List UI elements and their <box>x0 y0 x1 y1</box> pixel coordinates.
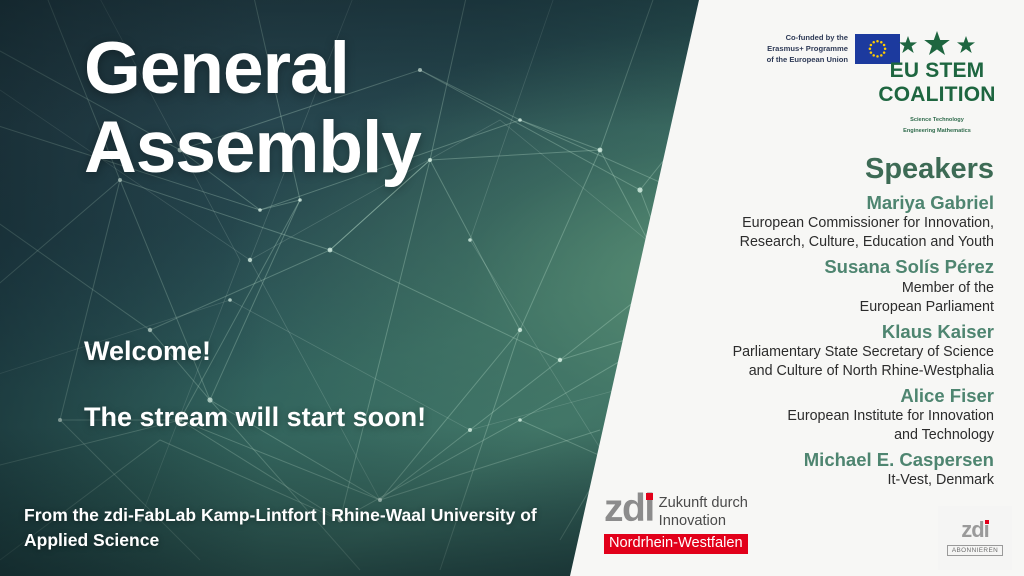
stem-tagline-line-2: Engineering Mathematics <box>858 126 1016 136</box>
title-line-1: General <box>84 28 349 109</box>
speaker-name: Klaus Kaiser <box>626 320 994 343</box>
speaker-role-line-2: Research, Culture, Education and Youth <box>626 233 994 252</box>
speakers-list: Mariya Gabriel European Commissioner for… <box>626 191 994 493</box>
speaker-entry: Susana Solís Pérez Member of the Europea… <box>626 255 994 316</box>
zdi-logo: zdi Zukunft durch Innovation Nordrhein-W… <box>604 492 782 554</box>
channel-watermark[interactable]: zdi ABONNIEREN <box>938 506 1012 570</box>
watermark-red-dot-icon <box>985 520 989 524</box>
zdi-red-dot-icon <box>646 493 653 500</box>
subscribe-button[interactable]: ABONNIEREN <box>947 545 1003 556</box>
welcome-text: Welcome! <box>84 336 211 367</box>
stream-notice-text: The stream will start soon! <box>84 402 426 433</box>
organizer-credit: From the zdi-FabLab Kamp-Lintfort | Rhin… <box>24 503 544 553</box>
stem-tagline-line-1: Science Technology <box>858 115 1016 125</box>
watermark-channel-logo[interactable]: zdi <box>961 520 989 540</box>
speaker-role-line-1: European Institute for Innovation <box>626 407 994 426</box>
speaker-role: European Institute for Innovation and Te… <box>626 407 994 445</box>
speaker-entry: Alice Fiser European Institute for Innov… <box>626 384 994 445</box>
speaker-name: Mariya Gabriel <box>626 191 994 214</box>
speaker-name: Susana Solís Pérez <box>626 255 994 278</box>
zdi-logo-top: zdi Zukunft durch Innovation <box>604 492 782 531</box>
speaker-name: Alice Fiser <box>626 384 994 407</box>
speaker-role: Member of the European Parliament <box>626 279 994 317</box>
speaker-entry: Klaus Kaiser Parliamentary State Secreta… <box>626 320 994 381</box>
speaker-role-line-1: It-Vest, Denmark <box>626 471 994 490</box>
speaker-entry: Mariya Gabriel European Commissioner for… <box>626 191 994 252</box>
zdi-slogan-line-1: Zukunft durch <box>659 495 748 513</box>
speaker-name: Michael E. Caspersen <box>626 448 994 471</box>
stem-name-line-2: COALITION <box>858 83 1016 107</box>
speaker-role-line-1: Parliamentary State Secretary of Science <box>626 343 994 362</box>
zdi-region-badge: Nordrhein-Westfalen <box>604 534 748 555</box>
eu-stem-coalition-logo: EU STEM COALITION Science Technology Eng… <box>858 30 1016 136</box>
speaker-role: Parliamentary State Secretary of Science… <box>626 343 994 381</box>
zdi-slogan: Zukunft durch Innovation <box>659 492 748 531</box>
speaker-role-line-2: and Culture of North Rhine-Westphalia <box>626 362 994 381</box>
three-stars-icon <box>858 30 1016 56</box>
stem-coalition-name: EU STEM COALITION <box>858 59 1016 106</box>
speaker-role-line-2: European Parliament <box>626 298 994 317</box>
stem-name-line-1: EU STEM <box>858 59 1016 83</box>
eu-funding-line-2: Erasmus+ Programme <box>756 44 848 55</box>
speaker-entry: Michael E. Caspersen It-Vest, Denmark <box>626 448 994 490</box>
speaker-role: European Commissioner for Innovation, Re… <box>626 214 994 252</box>
eu-funding-line-3: of the European Union <box>756 55 848 66</box>
eu-funding-line-1: Co-funded by the <box>756 33 848 44</box>
title-line-2: Assembly <box>84 109 644 188</box>
eu-funding-text: Co-funded by the Erasmus+ Programme of t… <box>756 33 848 65</box>
zdi-slogan-line-2: Innovation <box>659 513 748 531</box>
speaker-role: It-Vest, Denmark <box>626 471 994 490</box>
stem-coalition-tagline: Science Technology Engineering Mathemati… <box>858 115 1016 135</box>
zdi-wordmark: zdi <box>604 492 654 526</box>
speaker-role-line-1: Member of the <box>626 279 994 298</box>
page-title: General Assembly <box>84 30 644 188</box>
speaker-role-line-2: and Technology <box>626 426 994 445</box>
speakers-heading: Speakers <box>640 153 994 186</box>
speaker-role-line-1: European Commissioner for Innovation, <box>626 214 994 233</box>
stream-standby-slide: General Assembly Welcome! The stream wil… <box>0 0 1024 576</box>
